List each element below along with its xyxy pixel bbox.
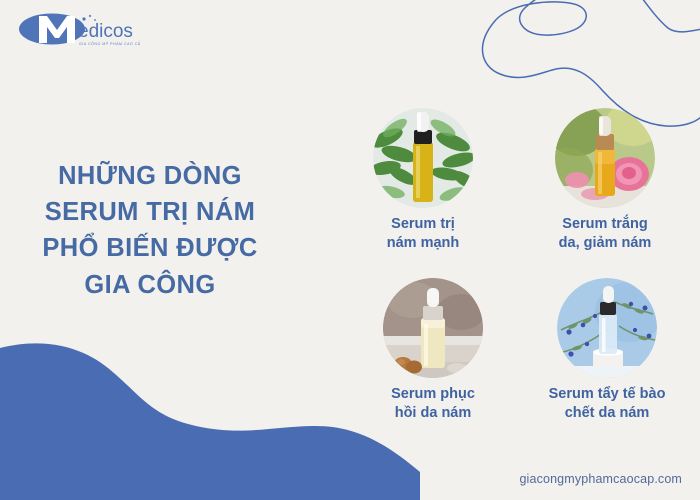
caption-line-2: da, giảm nám: [520, 234, 690, 253]
caption-line-2: chết da nám: [522, 404, 692, 423]
page-title: NHỮNG DÒNG SERUM TRỊ NÁM PHỔ BIẾN ĐƯỢC G…: [0, 158, 300, 303]
product-thumbnail-serum-trang-da-giam-nam: [555, 108, 655, 208]
product-card-serum-tay-te-bao-chet-da-nam[interactable]: Serum tẩy tế bào chết da nám: [522, 278, 692, 423]
infographic-canvas: edicos GIA CÔNG MỸ PHẨM CAO CẤP NHỮNG DÒ…: [0, 0, 700, 500]
logo-tagline: GIA CÔNG MỸ PHẨM CAO CẤP: [79, 41, 140, 46]
logo-wordmark: edicos: [78, 21, 133, 42]
product-thumbnail-serum-phuc-hoi-da-nam: [383, 278, 483, 378]
headline-line-2: SERUM TRỊ NÁM: [0, 194, 300, 230]
caption-line-1: Serum phục: [348, 385, 518, 404]
product-caption: Serum trị nám mạnh: [338, 215, 508, 253]
product-card-serum-phuc-hoi-da-nam[interactable]: Serum phục hồi da nám: [348, 278, 518, 423]
footer-website-url[interactable]: giacongmyphamcaocap.com: [519, 472, 682, 486]
caption-line-2: nám mạnh: [338, 234, 508, 253]
caption-line-1: Serum trị: [338, 215, 508, 234]
caption-line-2: hồi da nám: [348, 404, 518, 423]
product-thumbnail-serum-tay-te-bao-chet-da-nam: [557, 278, 657, 378]
headline-line-3: PHỔ BIẾN ĐƯỢC: [0, 230, 300, 266]
headline-line-4: GIA CÔNG: [0, 267, 300, 303]
product-card-serum-trang-da-giam-nam[interactable]: Serum trắng da, giảm nám: [520, 108, 690, 253]
product-grid: Serum trị nám mạnh: [330, 108, 690, 438]
caption-line-1: Serum trắng: [520, 215, 690, 234]
product-caption: Serum phục hồi da nám: [348, 385, 518, 423]
medicos-logo[interactable]: edicos GIA CÔNG MỸ PHẨM CAO CẤP: [16, 10, 140, 52]
headline-line-1: NHỮNG DÒNG: [0, 158, 300, 194]
caption-line-1: Serum tẩy tế bào: [522, 385, 692, 404]
product-caption: Serum trắng da, giảm nám: [520, 215, 690, 253]
product-caption: Serum tẩy tế bào chết da nám: [522, 385, 692, 423]
product-thumbnail-serum-tri-nam-manh: [373, 108, 473, 208]
product-card-serum-tri-nam-manh[interactable]: Serum trị nám mạnh: [338, 108, 508, 253]
